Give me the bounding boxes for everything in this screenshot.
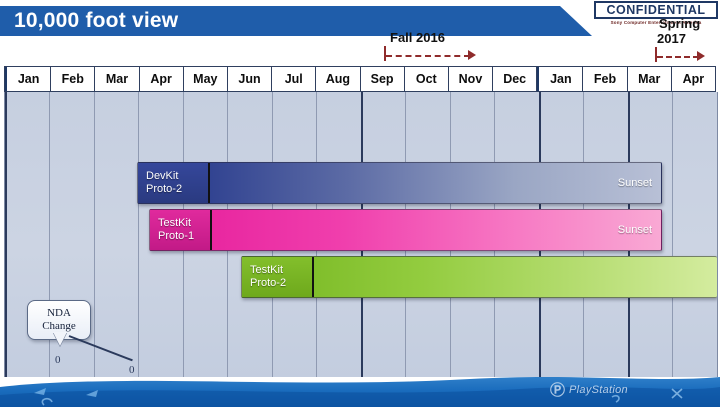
playstation-wordmark: PlayStation (569, 384, 628, 396)
month-cell-may-1[interactable]: May (184, 67, 228, 91)
period-arrow-line (657, 56, 699, 58)
period-tick-icon (655, 47, 657, 62)
grid-line (672, 92, 673, 377)
grid-line (94, 92, 95, 377)
grid-line (5, 92, 7, 377)
callout-line1: NDA (47, 307, 71, 320)
period-arrow-line (386, 55, 470, 57)
grid-line (138, 92, 139, 377)
period-label-spring-line2: 2017 (657, 31, 686, 46)
month-cell-apr-2[interactable]: Apr (672, 67, 715, 91)
month-cell-sep-1[interactable]: Sep (361, 67, 405, 91)
slide-title-banner: 10,000 foot view (0, 6, 592, 36)
gantt-chart-body: DevKit Proto-2 Sunset TestKit Proto-1 Su… (4, 92, 718, 377)
period-label-spring-line1: Spring (659, 16, 700, 31)
gantt-bar-testkit-proto1[interactable]: TestKit Proto-1 Sunset (149, 209, 662, 251)
bar-label-line2: Proto-2 (250, 277, 312, 290)
month-cell-apr-1[interactable]: Apr (140, 67, 184, 91)
bar-head-devkit: DevKit Proto-2 (138, 163, 210, 203)
month-cell-aug-1[interactable]: Aug (316, 67, 360, 91)
slide-canvas: 10,000 foot view CONFIDENTIAL Sony Compu… (0, 0, 720, 407)
period-label-fall: Fall 2016 (390, 30, 445, 45)
bar-label-line1: TestKit (250, 264, 312, 277)
bar-label-line2: Proto-1 (158, 230, 210, 243)
arrow-head-icon (468, 50, 476, 60)
bar-head-testkit2: TestKit Proto-2 (242, 257, 314, 297)
bar-end-label-sunset: Sunset (618, 177, 652, 189)
decor-zero: 0 (55, 354, 61, 366)
bar-label-line1: DevKit (146, 170, 208, 183)
page-title: 10,000 foot view (0, 9, 178, 33)
callout-tail-icon (53, 332, 67, 346)
month-cell-mar-1[interactable]: Mar (95, 67, 139, 91)
gantt-bar-testkit-proto2[interactable]: TestKit Proto-2 (241, 256, 717, 298)
playstation-mark-icon: Ⓟ (550, 379, 565, 400)
month-cell-dec-1[interactable]: Dec (493, 67, 537, 91)
timeline-month-header: Jan Feb Mar Apr May Jun Jul Aug Sep Oct … (4, 66, 716, 92)
bar-label-line1: TestKit (158, 217, 210, 230)
arrow-head-icon (697, 51, 705, 61)
callout-leader-line (69, 335, 133, 361)
bar-end-label-sunset: Sunset (618, 224, 652, 236)
month-cell-mar-2[interactable]: Mar (628, 67, 672, 91)
month-cell-oct-1[interactable]: Oct (405, 67, 449, 91)
bar-head-testkit1: TestKit Proto-1 (150, 210, 212, 250)
playstation-logo: Ⓟ PlayStation (550, 379, 628, 400)
gantt-bar-devkit-proto2[interactable]: DevKit Proto-2 Sunset (137, 162, 662, 204)
period-tick-icon (384, 46, 386, 61)
month-cell-nov-1[interactable]: Nov (449, 67, 493, 91)
month-cell-jan-2[interactable]: Jan (537, 67, 583, 91)
month-cell-jul-1[interactable]: Jul (272, 67, 316, 91)
month-cell-jan-1[interactable]: Jan (5, 67, 51, 91)
bar-label-line2: Proto-2 (146, 183, 208, 196)
month-cell-feb-1[interactable]: Feb (51, 67, 95, 91)
month-cell-jun-1[interactable]: Jun (228, 67, 272, 91)
month-cell-feb-2[interactable]: Feb (583, 67, 627, 91)
footer-wave: Ⓟ PlayStation (0, 371, 720, 407)
